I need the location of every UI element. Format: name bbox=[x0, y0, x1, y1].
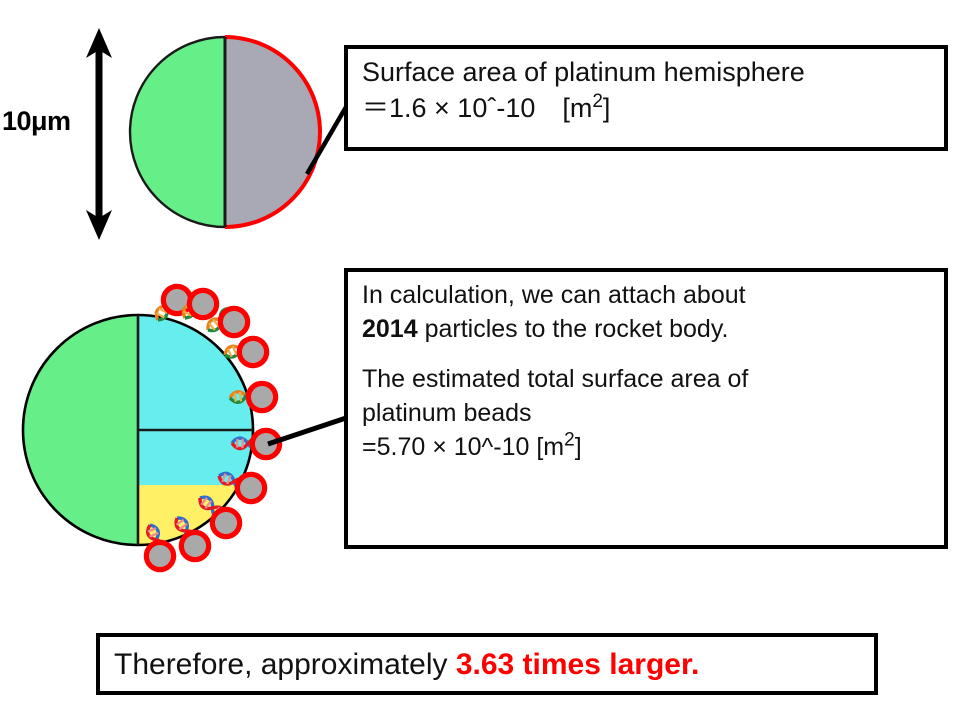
beads-line-3: The estimated total surface area of bbox=[362, 362, 932, 396]
conclusion-prefix: Therefore, approximately bbox=[114, 648, 456, 681]
hemisphere-value-suffix: ] bbox=[603, 93, 611, 123]
beads-value-exponent: 2 bbox=[564, 430, 575, 451]
platinum-bead bbox=[240, 339, 267, 366]
beads-value-prefix: =5.70 × 10^-10 [m bbox=[362, 433, 564, 461]
platinum-bead bbox=[147, 543, 174, 570]
callout-conclusion: Therefore, approximately 3.63 times larg… bbox=[96, 633, 878, 695]
beads-line-5: =5.70 × 10^-10 [m2] bbox=[362, 430, 932, 464]
hemisphere-value-exponent: 2 bbox=[592, 91, 603, 112]
beads-line-2-rest: particles to the rocket body. bbox=[418, 315, 729, 343]
callout-bead-calculation: In calculation, we can attach about 2014… bbox=[344, 268, 948, 549]
platinum-bead bbox=[253, 431, 280, 458]
platinum-bead bbox=[164, 287, 191, 314]
platinum-bead bbox=[213, 510, 240, 537]
slide-canvas: 10μm bbox=[0, 0, 960, 720]
hemisphere-value-prefix: ＝1.6 × 10ˆ-10 [m bbox=[362, 93, 592, 123]
scale-label: 10μm bbox=[2, 108, 92, 135]
hemisphere-line-2: ＝1.6 × 10ˆ-10 [m2] bbox=[362, 91, 932, 127]
hemisphere-line-1: Surface area of platinum hemisphere bbox=[362, 55, 932, 91]
platinum-bead bbox=[190, 291, 217, 318]
leader-line-beads bbox=[268, 418, 346, 444]
rocket-body-with-platinum-beads bbox=[23, 315, 253, 545]
callout-hemisphere-surface-area: Surface area of platinum hemisphere ＝1.6… bbox=[344, 45, 948, 151]
platinum-bead bbox=[182, 533, 209, 560]
beads-spacer bbox=[362, 346, 932, 362]
platinum-bead bbox=[221, 309, 248, 336]
platinum-hemisphere-sphere bbox=[130, 37, 320, 227]
beads-line-4: platinum beads bbox=[362, 396, 932, 430]
beads-value-suffix: ] bbox=[575, 433, 582, 461]
platinum-bead bbox=[249, 384, 276, 411]
beads-line-1: In calculation, we can attach about bbox=[362, 278, 932, 312]
beads-line-2: 2014 particles to the rocket body. bbox=[362, 312, 932, 346]
bead-cluster bbox=[145, 287, 279, 570]
particle-count: 2014 bbox=[362, 315, 418, 343]
leader-line-hemisphere bbox=[307, 107, 346, 174]
conclusion-emphasis: 3.63 times larger. bbox=[456, 648, 700, 681]
conclusion-line: Therefore, approximately 3.63 times larg… bbox=[100, 645, 699, 684]
platinum-bead bbox=[238, 475, 265, 502]
